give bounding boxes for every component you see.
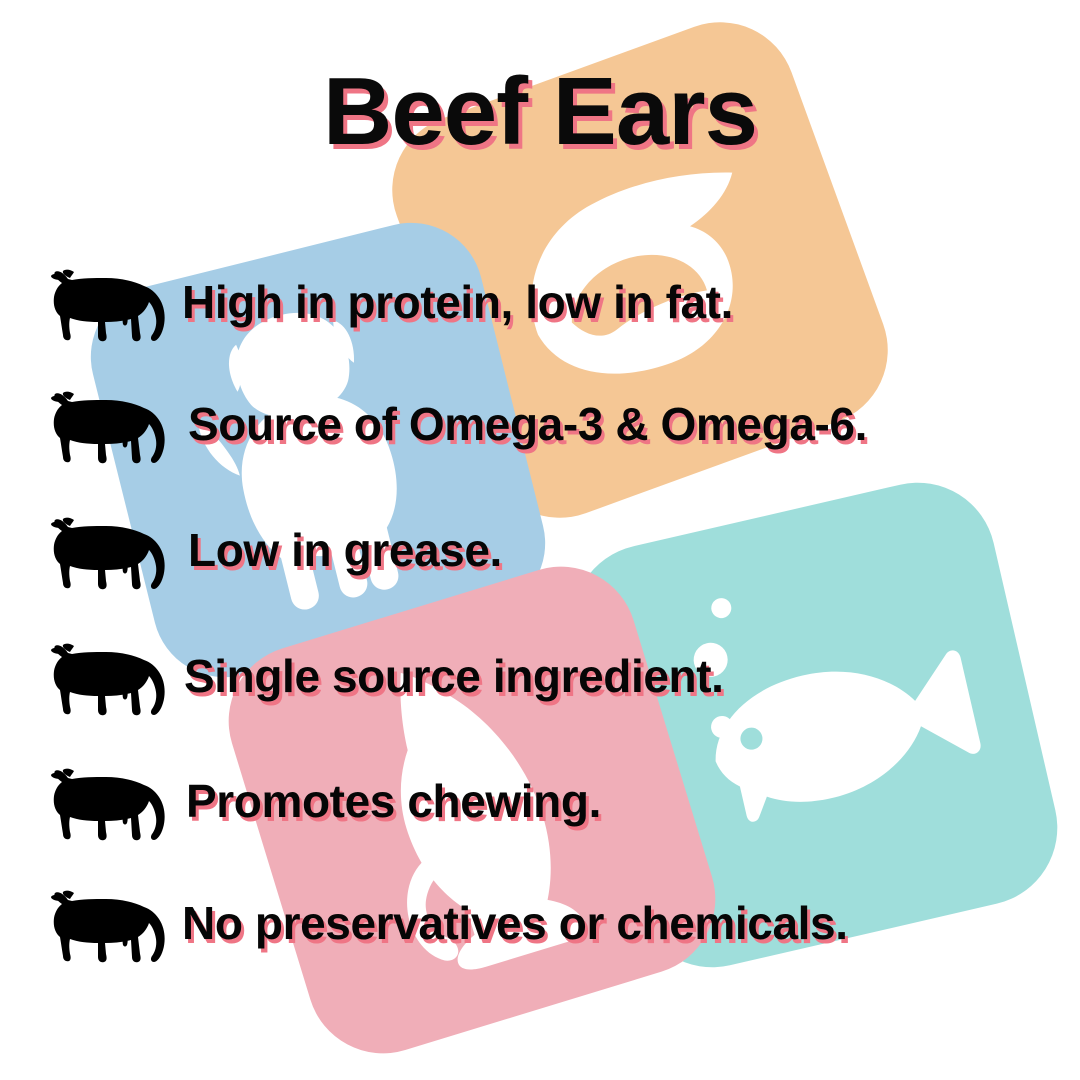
benefit-row: Source of Omega-3 & Omega-6. [48, 361, 1048, 487]
poster-canvas: Beef Ears High in protein, low in fat. [0, 0, 1080, 1080]
benefit-row: No preservatives or chemicals. [48, 863, 1048, 983]
cow-icon [48, 880, 174, 966]
benefit-row: Promotes chewing. [48, 739, 1048, 863]
cow-icon [48, 507, 174, 593]
benefit-row: Single source ingredient. [48, 613, 1048, 739]
benefit-text: Low in grease. [188, 523, 502, 577]
benefits-list: High in protein, low in fat. Source of O… [48, 243, 1048, 983]
benefit-row: Low in grease. [48, 487, 1048, 613]
cow-icon [48, 758, 174, 844]
cow-icon [48, 381, 174, 467]
benefit-text: No preservatives or chemicals. [182, 896, 848, 950]
benefit-text: Source of Omega-3 & Omega-6. [188, 397, 867, 451]
cow-icon [48, 259, 174, 345]
benefit-text: Promotes chewing. [186, 774, 601, 828]
cow-icon [48, 633, 174, 719]
benefit-text: High in protein, low in fat. [182, 275, 733, 329]
content-layer: Beef Ears High in protein, low in fat. [0, 0, 1080, 1080]
benefit-row: High in protein, low in fat. [48, 243, 1048, 361]
page-title: Beef Ears [0, 62, 1080, 163]
benefit-text: Single source ingredient. [184, 649, 724, 703]
